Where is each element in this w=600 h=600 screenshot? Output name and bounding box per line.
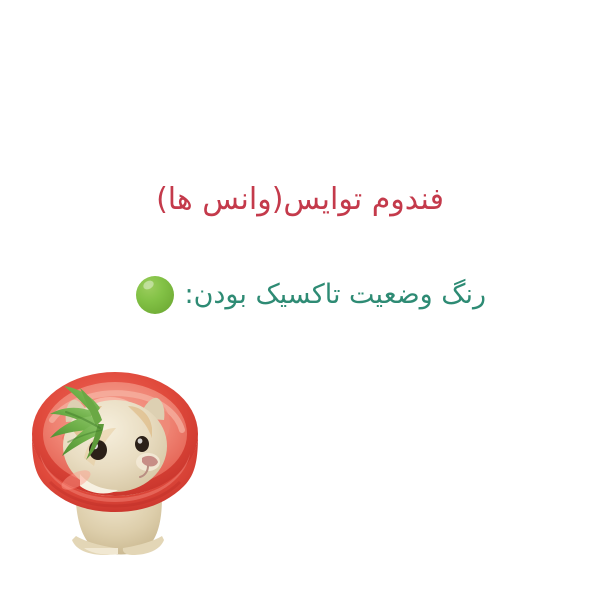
status-dot-wrap (136, 276, 174, 314)
cat-eye-right (135, 436, 149, 452)
title-row: فندوم توایس(وانس ها) (0, 178, 600, 222)
status-row: رنگ وضعیت تاکسیک بودن: (0, 272, 600, 318)
page-canvas: فندوم توایس(وانس ها) رنگ وضعیت تاکسیک بو… (0, 0, 600, 600)
cat-in-tomato-photo (14, 362, 214, 558)
green-status-dot-icon (136, 276, 174, 314)
page-title: فندوم توایس(وانس ها) (156, 178, 444, 222)
cat-in-tomato-illustration (14, 362, 214, 558)
status-label: رنگ وضعیت تاکسیک بودن: (184, 274, 486, 316)
